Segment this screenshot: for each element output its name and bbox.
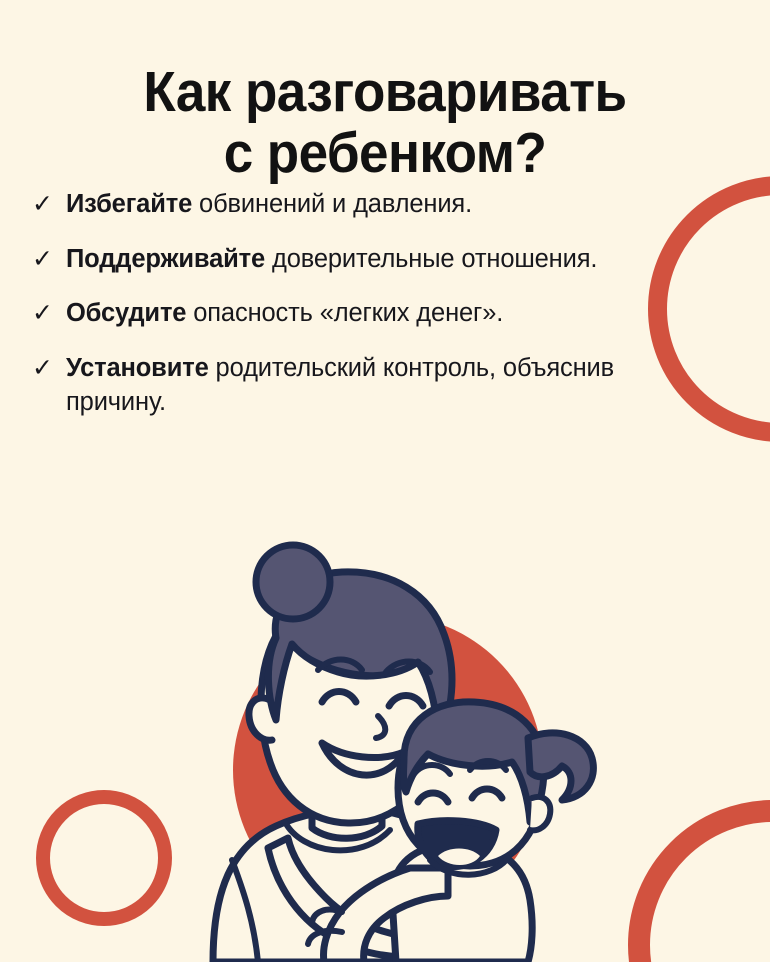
- advice-item: ✓ Установите родительский контроль, объя…: [30, 352, 690, 419]
- poster-canvas: Как разговаривать с ребенком? ✓ Избегайт…: [0, 0, 770, 962]
- advice-item-rest: доверительные отношения.: [265, 245, 597, 273]
- advice-item: ✓ Обсудите опасность «легких денег».: [30, 297, 690, 331]
- mother-child-illustration: [0, 530, 770, 962]
- figures-group: [213, 545, 593, 962]
- advice-item-lead: Установите: [66, 354, 209, 382]
- advice-list: ✓ Избегайте обвинений и давления. ✓ Подд…: [30, 188, 690, 419]
- poster-title-line-1: Как разговаривать: [27, 62, 743, 123]
- check-icon: ✓: [32, 243, 53, 276]
- advice-item-lead: Обсудите: [66, 299, 186, 327]
- advice-item-rest: опасность «легких денег».: [186, 299, 503, 327]
- advice-item: ✓ Поддерживайте доверительные отношения.: [30, 243, 690, 277]
- check-icon: ✓: [32, 297, 53, 330]
- check-icon: ✓: [32, 352, 53, 385]
- illustration-svg: [0, 530, 770, 962]
- child-ear: [530, 797, 550, 830]
- advice-item-lead: Избегайте: [66, 190, 192, 218]
- advice-item-lead: Поддерживайте: [66, 245, 265, 273]
- advice-item-rest: обвинений и давления.: [192, 190, 472, 218]
- check-icon: ✓: [32, 188, 53, 221]
- advice-item: ✓ Избегайте обвинений и давления.: [30, 188, 690, 222]
- mother-hair-bun: [256, 545, 330, 619]
- poster-title-line-2: с ребенком?: [27, 123, 743, 184]
- poster-title: Как разговаривать с ребенком?: [27, 62, 743, 184]
